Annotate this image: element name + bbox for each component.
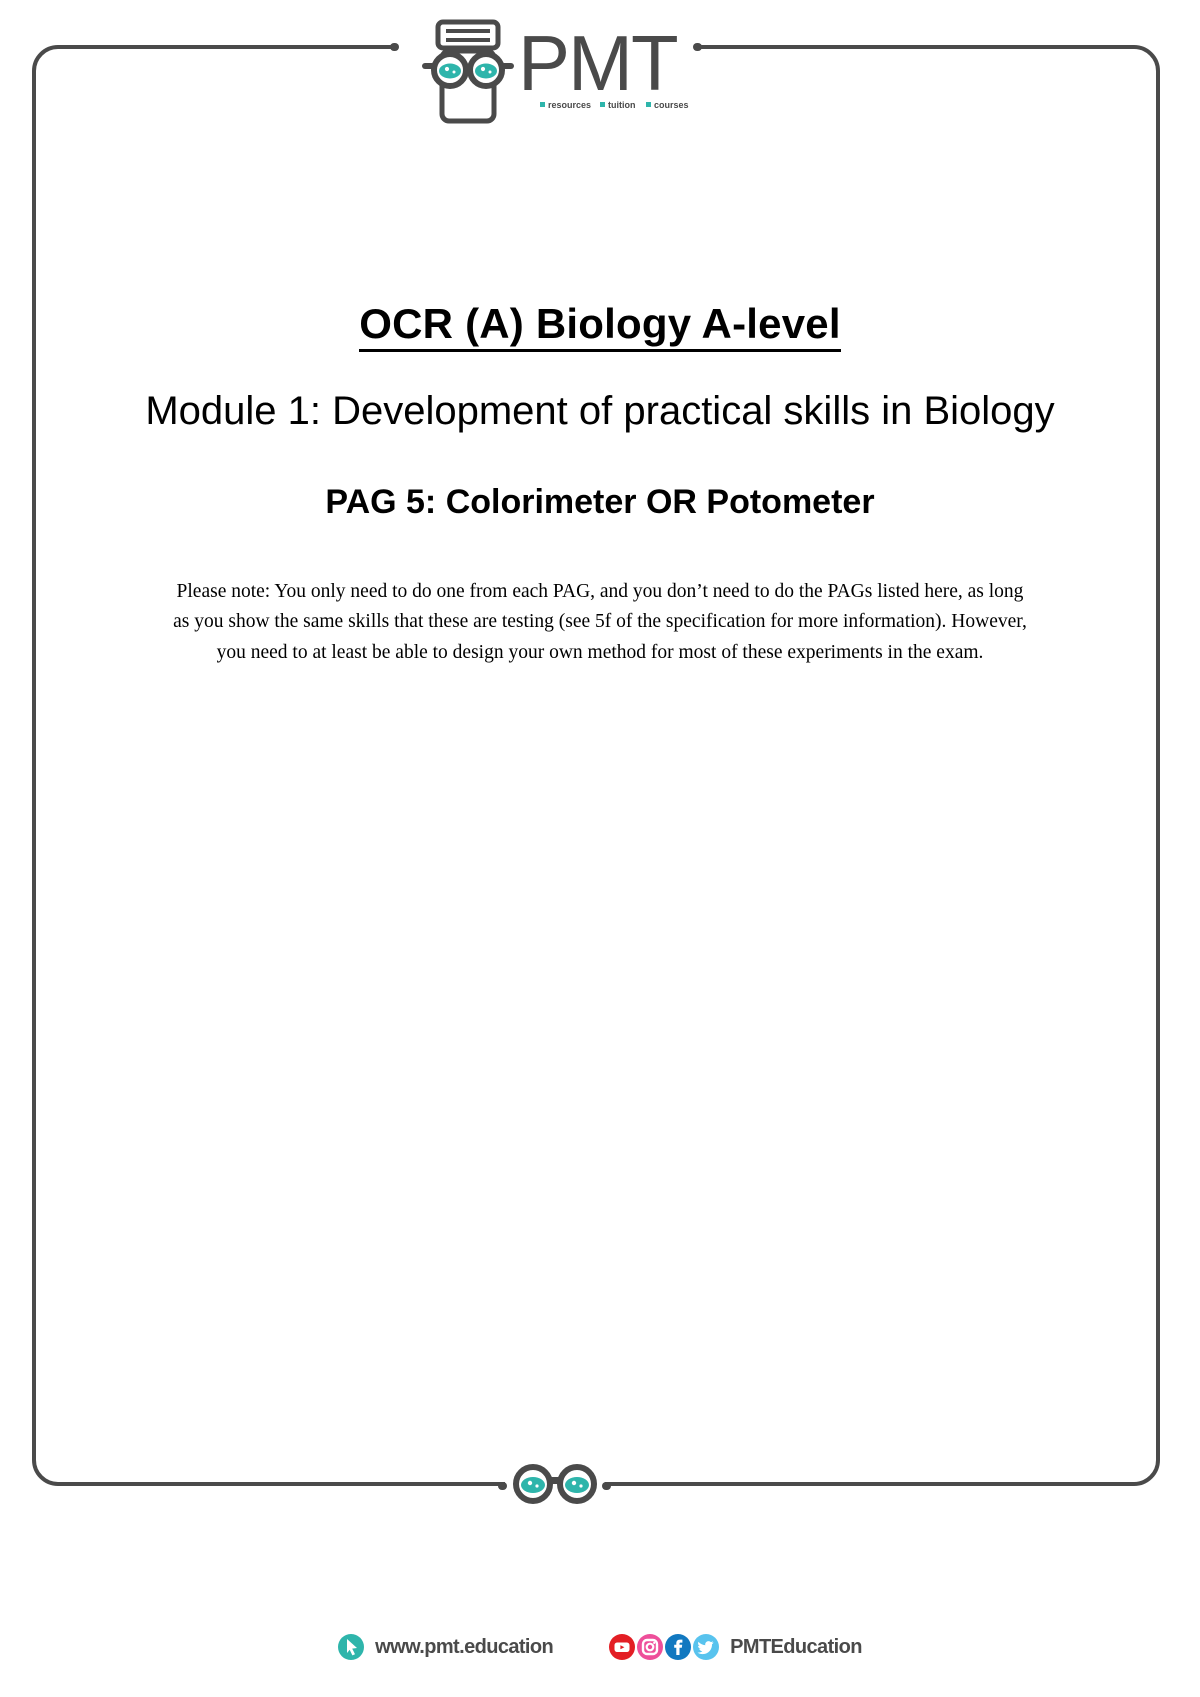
twitter-icon[interactable] [693,1634,719,1660]
youtube-icon[interactable] [609,1634,635,1660]
document-content: OCR (A) Biology A-level Module 1: Develo… [130,300,1070,668]
top-border-cap-right [693,43,702,51]
pag-heading: PAG 5: Colorimeter OR Potometer [130,482,1070,523]
pmt-logo: PMT resources tuition courses [420,18,680,128]
svg-text:tuition: tuition [608,100,636,110]
footer-website-group[interactable]: www.pmt.education [338,1634,553,1660]
footer-website-text: www.pmt.education [375,1636,553,1659]
page-footer: www.pmt.education [0,1622,1200,1672]
page-canvas: PMT resources tuition courses OCR (A) Bi… [0,0,1200,1697]
footer-social-group[interactable]: PMTEducation [609,1634,862,1660]
top-border-cap-left [390,43,399,51]
cursor-icon [338,1634,364,1660]
facebook-icon[interactable] [665,1634,691,1660]
instagram-icon[interactable] [637,1634,663,1660]
page-title-text: OCR (A) Biology A-level [359,300,840,352]
pmt-jar-glasses-logo-icon [420,18,516,126]
glasses-icon [505,1460,605,1508]
svg-text:courses: courses [654,100,689,110]
page-title: OCR (A) Biology A-level [130,300,1070,348]
page-border-frame [32,45,1160,1486]
svg-text:PMT: PMT [518,26,677,107]
svg-text:resources: resources [548,100,591,110]
module-subtitle: Module 1: Development of practical skill… [130,386,1070,436]
please-note-paragraph: Please note: You only need to do one fro… [170,577,1030,668]
pmt-wordmark: PMT resources tuition courses [518,18,694,118]
footer-social-handle-text: PMTEducation [730,1636,862,1659]
